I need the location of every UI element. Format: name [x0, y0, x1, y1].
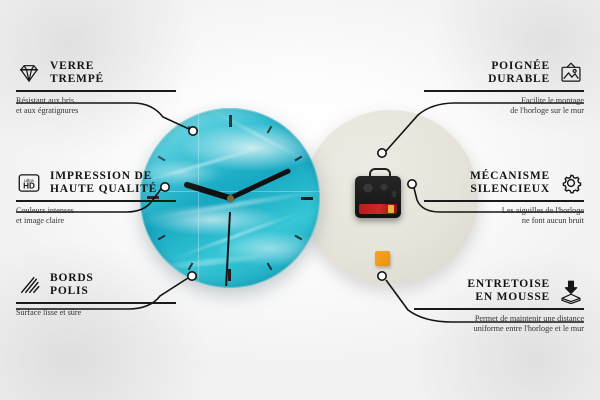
- feature-title: BORDS POLIS: [50, 272, 94, 298]
- battery: [359, 204, 397, 214]
- movement-housing-detail: [360, 181, 396, 201]
- feature-mecanisme-silencieux: MÉCANISME SILENCIEUX Les aiguilles de l'…: [419, 170, 584, 227]
- feature-entretoise-en-mousse: ENTRETOISE EN MOUSSE Permet de maintenir…: [409, 278, 584, 335]
- ultra-hd-icon: ultra HD: [16, 170, 42, 196]
- feature-description: Couleurs intenses et image claire: [16, 206, 181, 227]
- feature-bords-polis: BORDS POLIS Surface lisse et sûre: [16, 272, 181, 318]
- infographic-canvas: VERRE TREMPÉ Résistant aux bris et aux é…: [0, 0, 600, 400]
- foam-spacer-icon: [558, 278, 584, 304]
- feature-title: IMPRESSION DE HAUTE QUALITÉ: [50, 170, 157, 196]
- quartz-movement: [355, 176, 401, 218]
- hanger-hook: [369, 168, 391, 180]
- feature-title: VERRE TREMPÉ: [50, 60, 104, 86]
- feature-rule: [424, 200, 584, 202]
- feature-poignee-durable: POIGNÉE DURABLE Facilite le montage de l…: [419, 60, 584, 117]
- feature-description: Permet de maintenir une distance uniform…: [409, 314, 584, 335]
- feature-description: Facilite le montage de l'horloge sur le …: [419, 96, 584, 117]
- polished-edges-icon: [16, 272, 42, 298]
- feature-title: POIGNÉE DURABLE: [488, 60, 550, 86]
- feature-verre-trempe: VERRE TREMPÉ Résistant aux bris et aux é…: [16, 60, 181, 117]
- gear-icon: [558, 170, 584, 196]
- feature-impression-haute-qualite: ultra HD IMPRESSION DE HAUTE QUALITÉ Cou…: [16, 170, 181, 227]
- foam-spacer: [375, 251, 390, 266]
- wall-hanger-icon: [558, 60, 584, 86]
- feature-rule: [414, 308, 584, 310]
- feature-rule: [16, 200, 176, 202]
- feature-description: Surface lisse et sûre: [16, 308, 181, 319]
- feature-rule: [424, 90, 584, 92]
- feature-title: MÉCANISME SILENCIEUX: [470, 170, 550, 196]
- diamond-icon: [16, 60, 42, 86]
- feature-description: Résistant aux bris et aux égratignures: [16, 96, 181, 117]
- feature-rule: [16, 90, 176, 92]
- feature-rule: [16, 302, 176, 304]
- ultra-hd-large-label: HD: [23, 182, 35, 191]
- feature-description: Les aiguilles de l'horloge ne font aucun…: [419, 206, 584, 227]
- feature-title: ENTRETOISE EN MOUSSE: [467, 278, 550, 304]
